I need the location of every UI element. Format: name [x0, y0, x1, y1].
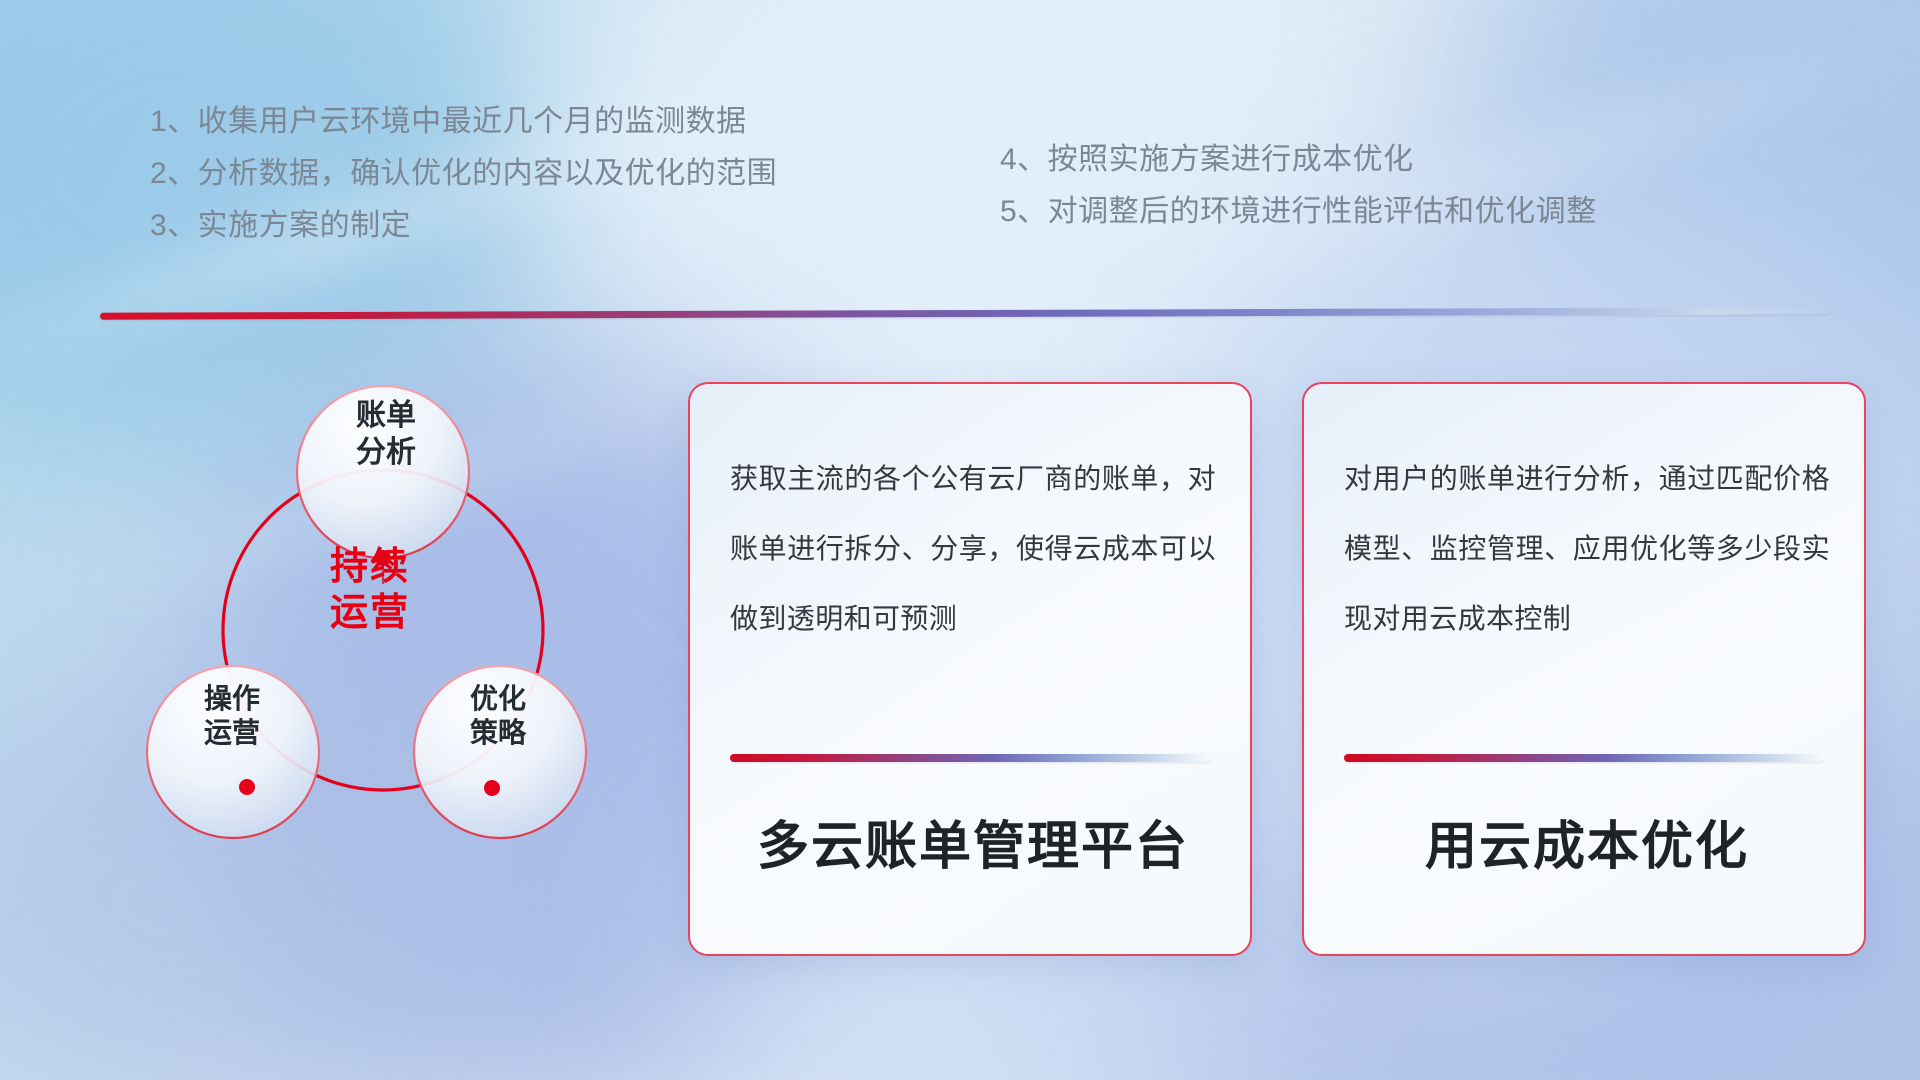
- card-multi-cloud-billing-platform[interactable]: 获取主流的各个公有云厂商的账单，对账单进行拆分、分享，使得云成本可以做到透明和可…: [688, 382, 1252, 956]
- node-dot-left: [239, 779, 255, 795]
- node-circle-operations[interactable]: [147, 666, 319, 838]
- card-accent-rule: [1344, 754, 1824, 762]
- node-dot-right: [484, 780, 500, 796]
- slide-canvas: 1、收集用户云环境中最近几个月的监测数据 2、分析数据，确认优化的内容以及优化的…: [0, 0, 1920, 1080]
- steps-left-column: 1、收集用户云环境中最近几个月的监测数据 2、分析数据，确认优化的内容以及优化的…: [150, 96, 777, 252]
- step-item: 1、收集用户云环境中最近几个月的监测数据: [150, 96, 777, 148]
- step-item: 2、分析数据，确认优化的内容以及优化的范围: [150, 148, 777, 200]
- card-title: 用云成本优化: [1344, 804, 1830, 879]
- card-description: 对用户的账单进行分析，通过匹配价格模型、监控管理、应用优化等多少段实现对用云成本…: [1344, 444, 1830, 654]
- step-item: 3、实施方案的制定: [150, 200, 777, 252]
- steps-right-column: 4、按照实施方案进行成本优化 5、对调整后的环境进行性能评估和优化调整: [1000, 134, 1597, 238]
- step-item: 4、按照实施方案进行成本优化: [1000, 134, 1597, 186]
- card-accent-rule: [730, 754, 1210, 762]
- venn-svg: [100, 352, 620, 952]
- divider-gradient-bar: [100, 307, 1830, 319]
- card-description: 获取主流的各个公有云厂商的账单，对账单进行拆分、分享，使得云成本可以做到透明和可…: [730, 444, 1216, 654]
- continuous-operations-diagram: 账单 分析 操作 运营 优化 策略 持续 运营: [100, 352, 620, 952]
- node-circle-optimization-policy[interactable]: [414, 666, 586, 838]
- section-divider: [100, 310, 1830, 322]
- process-steps: 1、收集用户云环境中最近几个月的监测数据 2、分析数据，确认优化的内容以及优化的…: [0, 96, 1920, 266]
- card-cloud-cost-optimization[interactable]: 对用户的账单进行分析，通过匹配价格模型、监控管理、应用优化等多少段实现对用云成本…: [1302, 382, 1866, 956]
- node-circle-billing-analysis[interactable]: [297, 386, 469, 558]
- step-item: 5、对调整后的环境进行性能评估和优化调整: [1000, 186, 1597, 238]
- card-title: 多云账单管理平台: [730, 804, 1216, 879]
